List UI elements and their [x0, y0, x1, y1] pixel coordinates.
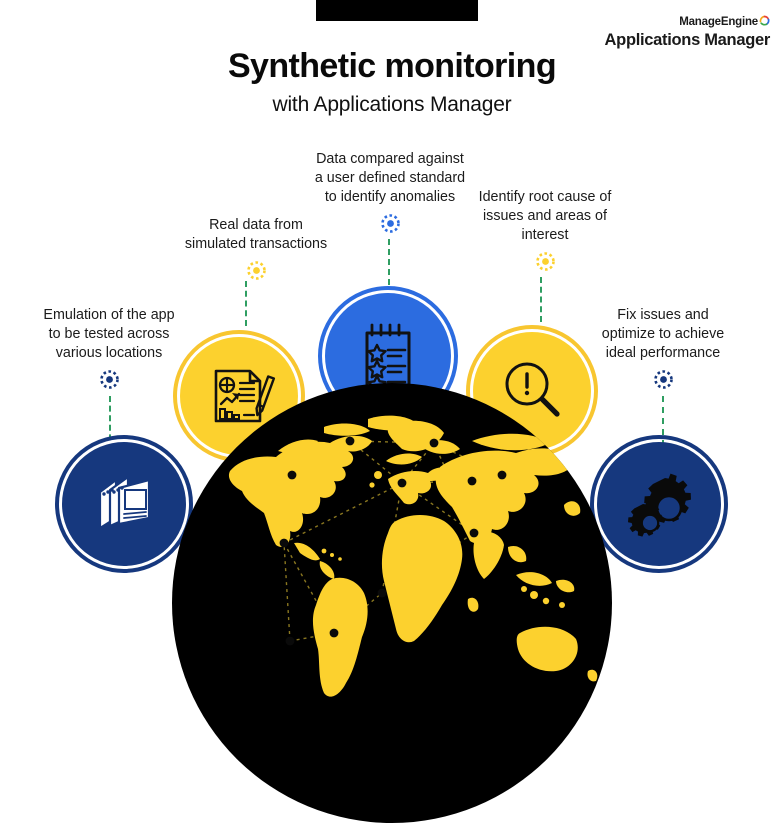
- manageengine-logo: ManageEngine Applications Manager: [605, 13, 770, 49]
- page-title: Synthetic monitoring: [0, 47, 784, 86]
- dotted-ring-marker-icon: [653, 369, 674, 390]
- connector-root-cause: [540, 277, 542, 322]
- infographic-canvas: ManageEngine Applications Manager Synthe…: [0, 0, 784, 589]
- logo-manageengine-text: ManageEngine: [679, 16, 758, 28]
- world-map-globe: [172, 383, 612, 823]
- dotted-ring-marker-icon: [99, 369, 120, 390]
- page-subtitle: with Applications Manager: [0, 93, 784, 117]
- callout-root-cause: Identify root cause of issues and areas …: [458, 188, 632, 272]
- callout-data-compared: Data compared against a user defined sta…: [297, 150, 483, 234]
- callout-fix-issues: Fix issues and optimize to achieve ideal…: [573, 306, 753, 390]
- callout-data-compared-text: Data compared against a user defined sta…: [297, 150, 483, 207]
- dotted-ring-marker-icon: [380, 213, 401, 234]
- connector-data-compared: [388, 239, 390, 285]
- manageengine-swirl-icon: [759, 15, 770, 26]
- connector-real-data: [245, 281, 247, 326]
- dotted-ring-marker-icon: [535, 251, 556, 272]
- logo-brand-name: ManageEngine: [679, 15, 770, 29]
- callout-emulation-text: Emulation of the app to be tested across…: [14, 306, 204, 363]
- callout-fix-issues-text: Fix issues and optimize to achieve ideal…: [573, 306, 753, 363]
- top-black-bar: [316, 0, 478, 21]
- dotted-ring-marker-icon: [246, 260, 267, 281]
- callout-root-cause-text: Identify root cause of issues and areas …: [458, 188, 632, 245]
